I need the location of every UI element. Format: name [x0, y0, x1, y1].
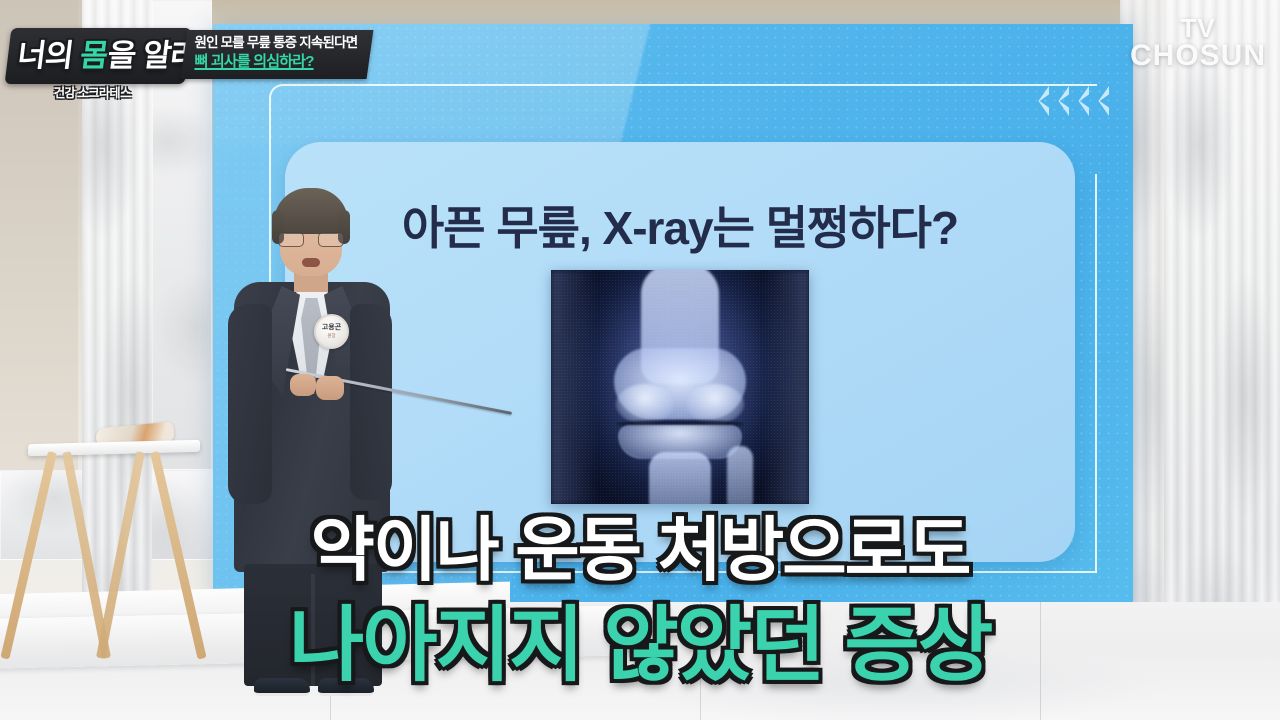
chevron-left-icon [1073, 86, 1089, 116]
program-logo-subtitle: 건강 소크라테스 [54, 84, 131, 101]
broadcast-frame: 아픈 무릎, X-ray는 멀쩡하다? [0, 0, 1280, 720]
badge-name-text: 고용곤 [322, 324, 341, 331]
presenter-arm-right [350, 304, 392, 500]
xray-film-grain [551, 270, 809, 504]
program-logo-text: 너의 몸을 알라 [15, 30, 185, 75]
presenter-hand-right [316, 376, 344, 400]
wall-panel-top [150, 0, 1130, 26]
presenter-arm-left [228, 304, 272, 504]
subtitle-line-2: 나아지지 않았던 증상 [0, 578, 1280, 697]
badge-role-text: 원장 [327, 333, 335, 339]
glasses-icon [278, 232, 344, 247]
presenter-mouth [302, 258, 320, 267]
presenter-hand-left [290, 374, 316, 396]
program-logo: 너의 몸을 알라 건강 소크라테스 [8, 28, 188, 84]
topic-banner-line1: 원인 모를 무릎 통증 지속된다면 [194, 34, 362, 52]
chevron-left-icon [1033, 86, 1049, 116]
knee-xray-image [551, 270, 809, 504]
topic-banner-line2: 뼈 괴사를 의심하라? [194, 52, 362, 72]
slide-title: 아픈 무릎, X-ray는 멀쩡하다? [285, 192, 1075, 258]
presenter-hair [274, 188, 348, 234]
channel-watermark: TV CHOSUN [1130, 16, 1266, 71]
chevron-left-icon [1093, 86, 1109, 116]
channel-watermark-line1: TV [1130, 16, 1266, 41]
channel-watermark-line2: CHOSUN [1130, 41, 1266, 70]
chevron-left-icon-group [1033, 86, 1109, 116]
program-logo-text-part1: 너의 [15, 38, 82, 73]
chevron-left-icon [1053, 86, 1069, 116]
topic-banner: 원인 모를 무릎 통증 지속된다면 뼈 괴사를 의심하라? [181, 30, 374, 79]
presenter-name-badge: 고용곤 원장 [314, 314, 349, 349]
